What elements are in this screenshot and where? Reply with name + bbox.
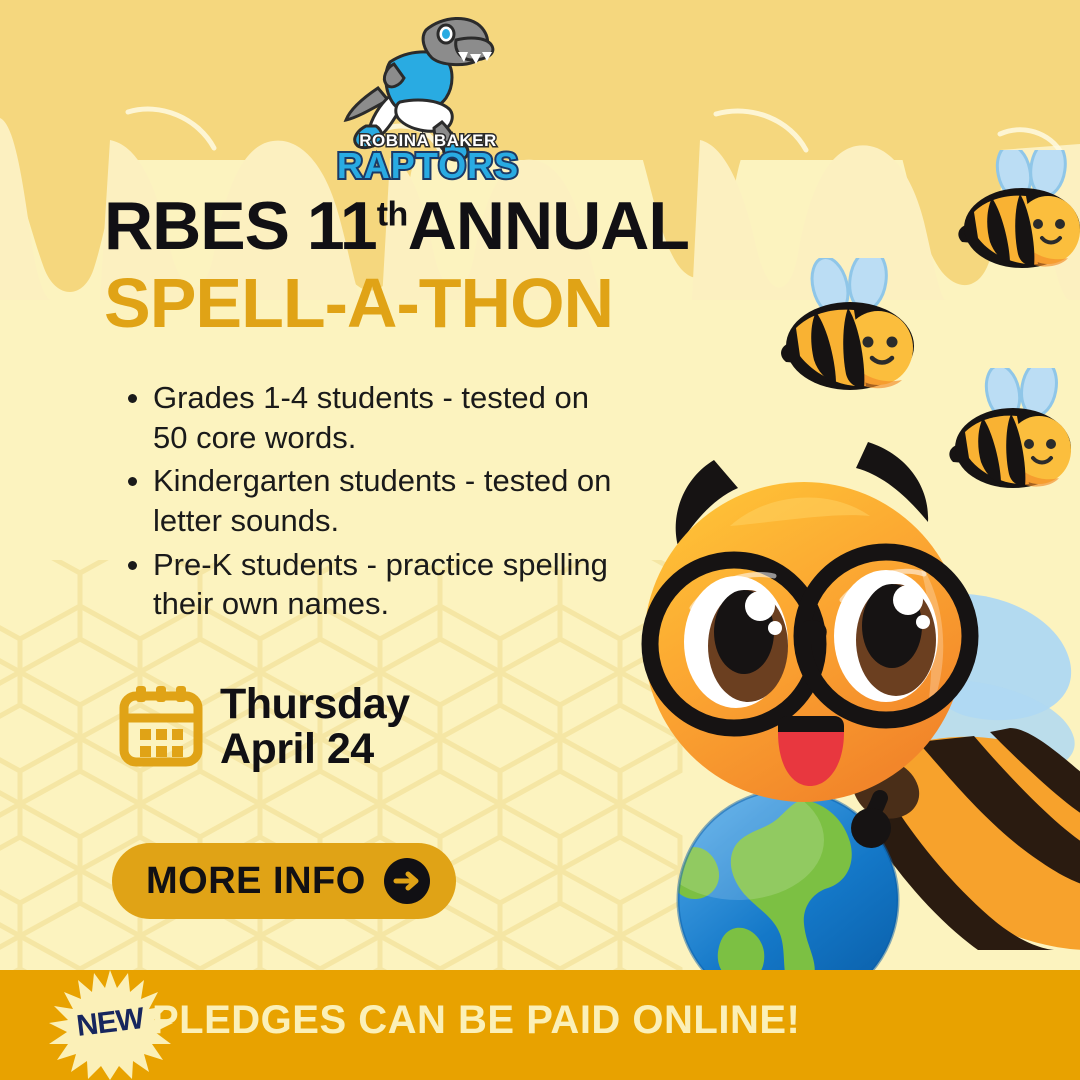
calendar-icon [118,684,204,770]
logo-line2: RAPTORS [337,145,519,182]
bullet-dot-icon [128,561,137,570]
honeycomb-pattern [0,560,700,1020]
bullet-text: Kindergarten students - tested on letter… [153,461,618,540]
bullet-text: Pre-K students - practice spelling their… [153,545,618,624]
spelling-bee-mascot [618,430,1080,1030]
headline-line1: RBES 11thANNUAL [104,192,804,260]
banner-message: PLEDGES CAN BE PAID ONLINE! [152,998,800,1043]
headline-ordinal-suffix: th [377,195,408,233]
bee-lower-right-icon [947,368,1080,496]
event-weekday: Thursday [220,682,410,727]
more-info-label: MORE INFO [146,860,366,903]
bullet-list: Grades 1-4 students - tested on 50 core … [128,378,618,628]
event-month-day: April 24 [220,727,410,772]
poster: ROBINA BAKER RAPTORS [0,0,1080,1080]
headline: RBES 11thANNUAL SPELL-A-THON [104,192,804,342]
bullet-text: Grades 1-4 students - tested on 50 core … [153,378,618,457]
list-item: Grades 1-4 students - tested on 50 core … [128,378,618,457]
event-date: Thursday April 24 [118,682,410,771]
headline-prefix: RBES 11 [104,188,377,264]
bullet-dot-icon [128,477,137,486]
headline-line2: SPELL-A-THON [104,266,804,342]
bottom-banner: NEW PLEDGES CAN BE PAID ONLINE! [0,970,1080,1080]
robina-baker-raptors-logo: ROBINA BAKER RAPTORS [330,2,530,182]
bee-top-right-icon [956,150,1080,275]
headline-suffix: ANNUAL [408,188,689,264]
more-info-button[interactable]: MORE INFO [112,843,456,919]
event-date-text: Thursday April 24 [220,682,410,771]
list-item: Kindergarten students - tested on letter… [128,461,618,540]
bullet-dot-icon [128,394,137,403]
list-item: Pre-K students - practice spelling their… [128,545,618,624]
arrow-right-circle-icon [384,858,430,904]
